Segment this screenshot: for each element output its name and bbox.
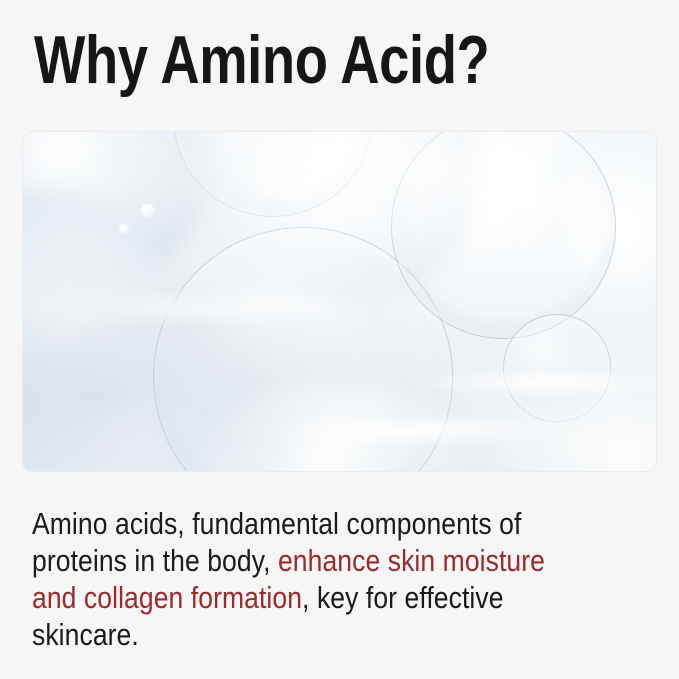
infographic-panel: Why Amino Acid? Amino acids, fundamental… [0,0,679,679]
page-title: Why Amino Acid? [34,24,522,96]
caption-text: Amino acids, fundamental components of p… [32,505,545,653]
hero-image [23,132,656,471]
gel-vignette [23,132,656,471]
